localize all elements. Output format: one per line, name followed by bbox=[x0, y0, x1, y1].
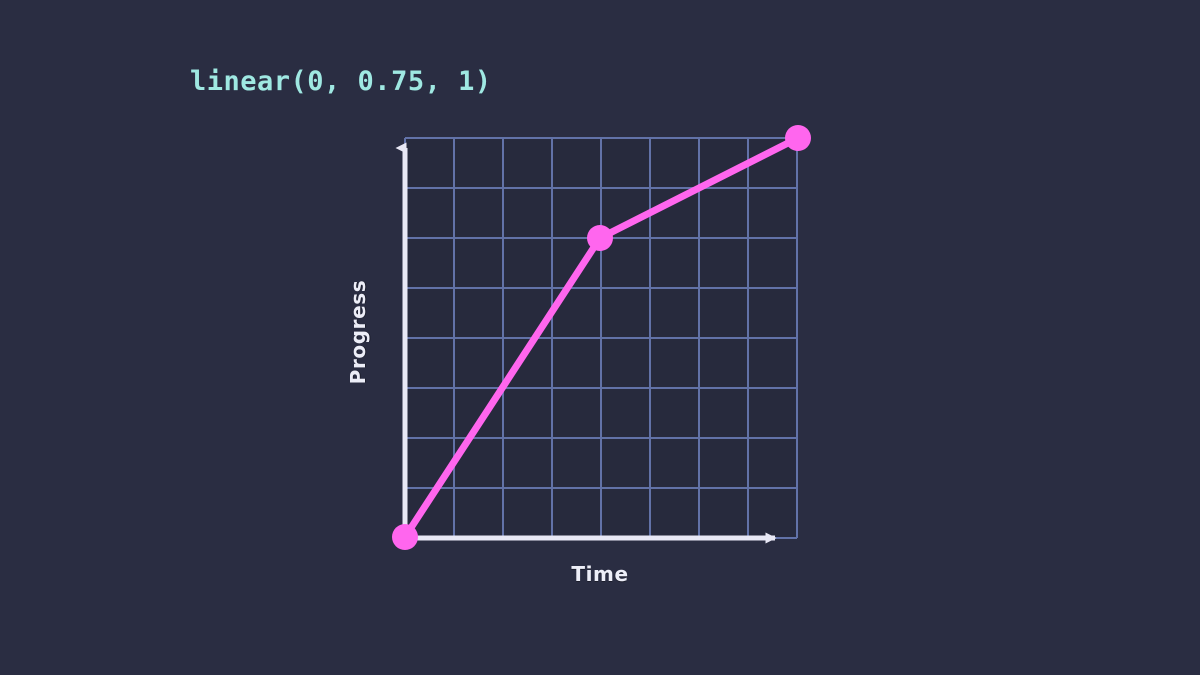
data-point-start[interactable] bbox=[392, 524, 418, 550]
easing-curve-figure: linear(0, 0.75, 1) bbox=[0, 0, 1200, 675]
data-point-end[interactable] bbox=[785, 125, 811, 151]
y-axis-label: Progress bbox=[346, 280, 370, 385]
data-point-control[interactable] bbox=[587, 225, 613, 251]
x-axis-label: Time bbox=[0, 562, 1200, 586]
